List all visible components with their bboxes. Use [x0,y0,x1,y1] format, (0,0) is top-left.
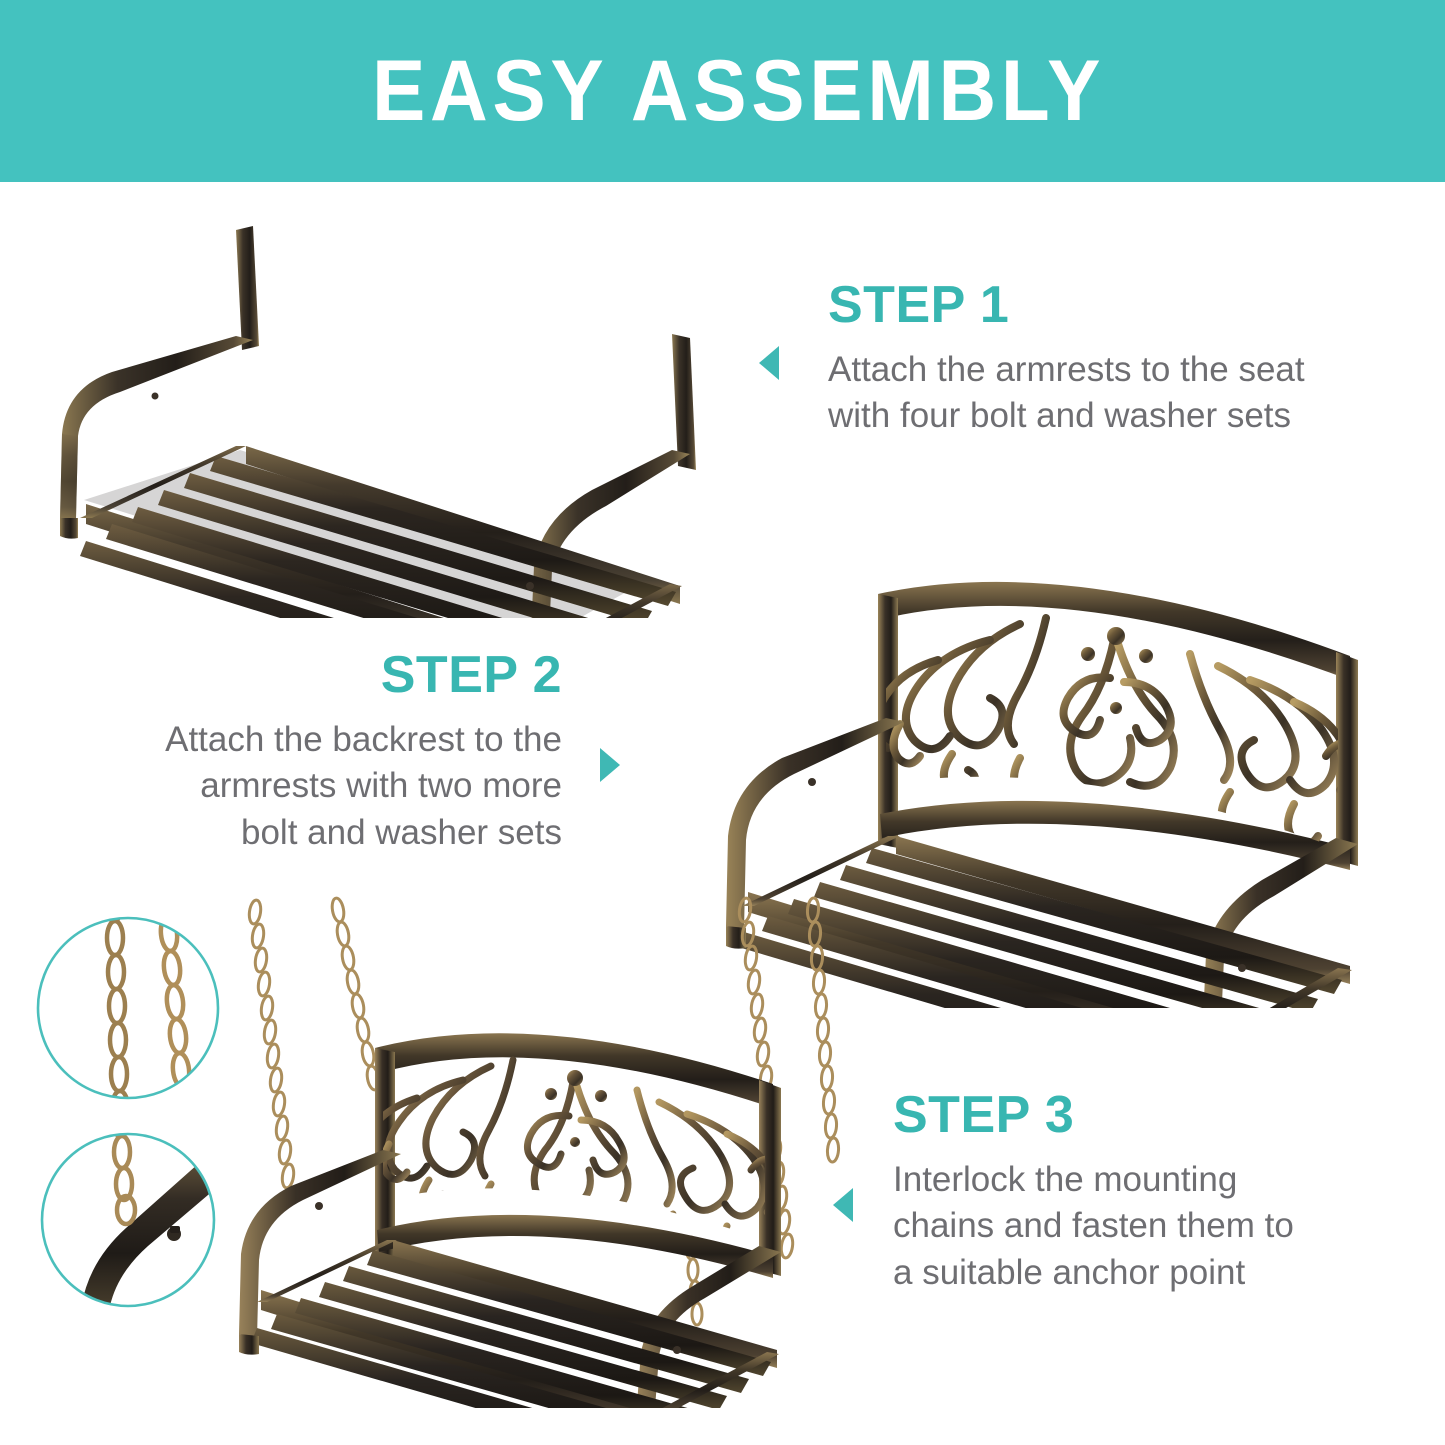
step-3-body-line-1: Interlock the mounting [893,1157,1294,1204]
step-1-heading: STEP 1 [828,278,1305,333]
step-1-illustration-seat-frame [40,188,740,618]
step-2-body: Attach the backrest to the armrests with… [52,717,562,857]
step-2-block: STEP 2 Attach the backrest to the armres… [52,648,562,856]
step-3-heading: STEP 3 [893,1088,1294,1143]
step-1-body-line-1: Attach the armrests to the seat [828,347,1305,394]
detail-inset-group [28,898,268,1338]
infographic-page: EASY ASSEMBLY [0,0,1445,1445]
step-2-heading: STEP 2 [52,648,562,703]
step-3-body: Interlock the mounting chains and fasten… [893,1157,1294,1297]
inset-chain-links-content [106,898,194,1125]
step-2-body-line-3: bolt and washer sets [52,810,562,857]
step-1-block: STEP 1 Attach the armrests to the seat w… [828,278,1305,440]
page-title: EASY ASSEMBLY [372,48,1105,134]
step-1-body: Attach the armrests to the seat with fou… [828,347,1305,440]
step-3-illustration-hanging-swing [225,888,845,1408]
step-1-body-line-2: with four bolt and washer sets [828,393,1305,440]
step-3-body-line-2: chains and fasten them to [893,1203,1294,1250]
step-2-body-line-2: armrests with two more [52,763,562,810]
step-2-arrow-right-icon [600,748,620,782]
step-2-body-line-1: Attach the backrest to the [52,717,562,764]
header-banner: EASY ASSEMBLY [0,0,1445,182]
step-3-arrow-left-icon [833,1188,853,1222]
step-3-body-line-3: a suitable anchor point [893,1250,1294,1297]
step-1-arrow-left-icon [759,346,779,380]
step-3-block: STEP 3 Interlock the mounting chains and… [893,1088,1294,1296]
